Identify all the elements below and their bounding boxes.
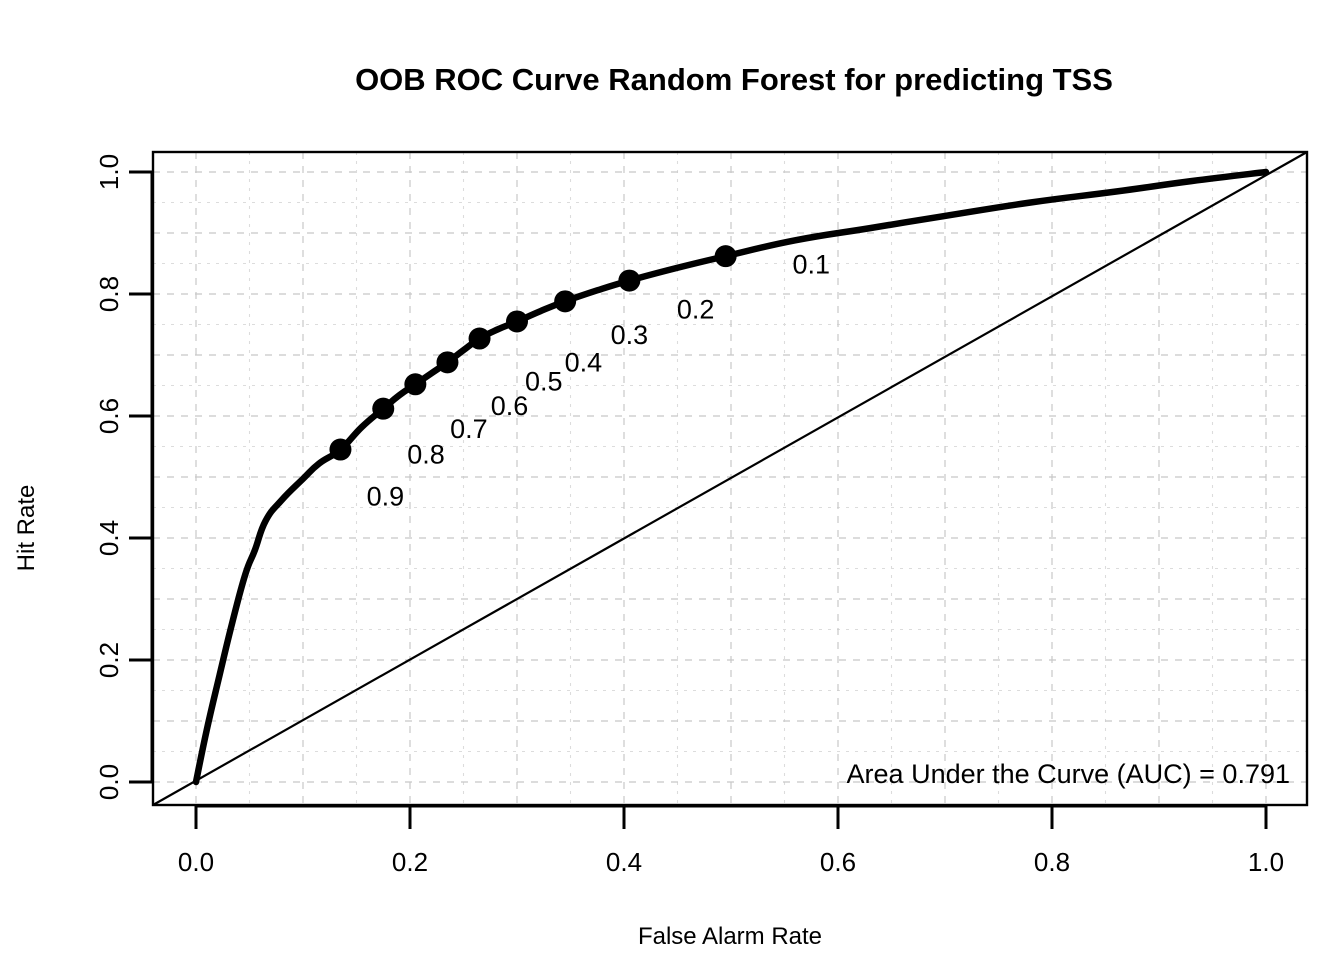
roc-chart-svg: OOB ROC Curve Random Forest for predicti… bbox=[0, 0, 1344, 960]
threshold-point-label: 0.9 bbox=[367, 482, 405, 512]
threshold-point-marker bbox=[618, 270, 640, 292]
y-axis-tick-label: 1.0 bbox=[94, 154, 124, 190]
chart-background bbox=[0, 0, 1344, 960]
y-axis-label: Hit Rate bbox=[13, 485, 40, 572]
threshold-point-marker bbox=[329, 439, 351, 461]
threshold-point-label: 0.2 bbox=[677, 294, 715, 324]
threshold-point-label: 0.6 bbox=[491, 391, 529, 421]
y-axis-tick-label: 0.8 bbox=[94, 276, 124, 312]
threshold-point-label: 0.7 bbox=[450, 414, 488, 444]
threshold-point-marker bbox=[372, 398, 394, 420]
x-axis-tick-label: 1.0 bbox=[1248, 847, 1284, 877]
x-axis-label: False Alarm Rate bbox=[638, 923, 822, 950]
x-axis-tick-label: 0.8 bbox=[1034, 847, 1070, 877]
roc-chart-container: OOB ROC Curve Random Forest for predicti… bbox=[0, 0, 1344, 960]
threshold-point-label: 0.3 bbox=[611, 320, 649, 350]
threshold-point-label: 0.1 bbox=[792, 249, 830, 279]
threshold-point-marker bbox=[554, 290, 576, 312]
x-axis-tick-label: 0.0 bbox=[178, 847, 214, 877]
threshold-point-marker bbox=[404, 373, 426, 395]
x-axis-tick-label: 0.4 bbox=[606, 847, 642, 877]
x-axis-tick-label: 0.6 bbox=[820, 847, 856, 877]
y-axis-tick-label: 0.2 bbox=[94, 642, 124, 678]
threshold-point-marker bbox=[469, 328, 491, 350]
auc-annotation: Area Under the Curve (AUC) = 0.791 bbox=[847, 759, 1290, 789]
y-axis-tick-label: 0.4 bbox=[94, 520, 124, 556]
threshold-point-marker bbox=[436, 351, 458, 373]
threshold-point-marker bbox=[715, 245, 737, 267]
page-title: OOB ROC Curve Random Forest for predicti… bbox=[355, 62, 1113, 97]
y-axis-tick-label: 0.0 bbox=[94, 764, 124, 800]
x-axis-tick-label: 0.2 bbox=[392, 847, 428, 877]
y-axis-tick-label: 0.6 bbox=[94, 398, 124, 434]
threshold-point-label: 0.4 bbox=[565, 347, 603, 377]
threshold-point-marker bbox=[506, 310, 528, 332]
threshold-point-label: 0.8 bbox=[407, 440, 445, 470]
threshold-point-label: 0.5 bbox=[525, 366, 563, 396]
